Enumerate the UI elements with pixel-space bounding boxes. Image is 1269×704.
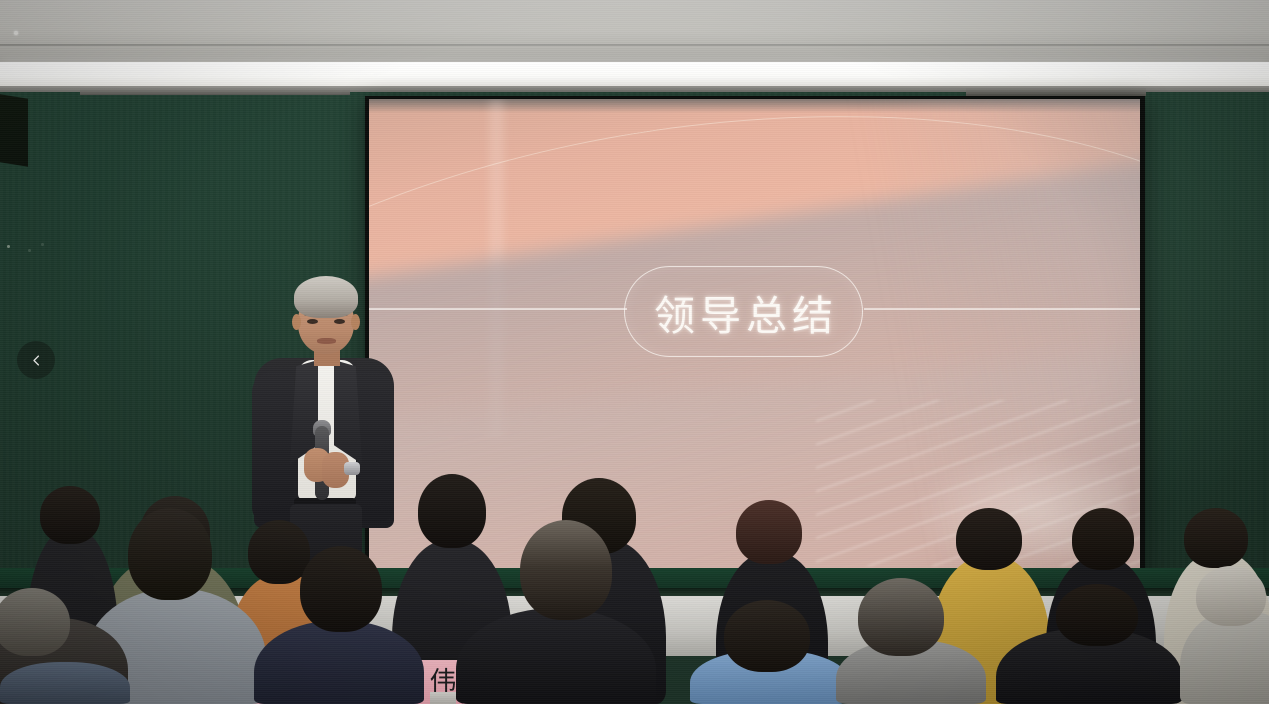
- name-placard-stand: [430, 692, 456, 704]
- attendee-black-top-head: [1072, 508, 1134, 570]
- attendee-orange-top-head: [248, 520, 310, 584]
- corner-speaker-unit: [0, 93, 28, 166]
- wall-speck: [7, 245, 10, 248]
- previous-image-button[interactable]: [17, 341, 55, 379]
- attendee-back-dark-3-head: [736, 500, 802, 564]
- attendee-black-jacket-head: [418, 474, 486, 548]
- attendee-dark-suit-head: [520, 520, 612, 620]
- presenter-ear-right: [351, 314, 360, 330]
- attendee-dark-turtleneck-head: [1056, 584, 1138, 646]
- presenter-wristwatch: [344, 462, 360, 475]
- attendee-gray-knit-head: [858, 578, 944, 656]
- wall-speck: [28, 249, 31, 252]
- slide-rule-right: [864, 308, 1140, 310]
- presenter-ear-left: [292, 314, 301, 330]
- attendee-light-gray-coat-head: [1196, 566, 1266, 626]
- slide-title-pill: 领导总结: [624, 266, 863, 357]
- presenter-hair: [294, 276, 358, 318]
- presenter-eye-right: [334, 319, 345, 324]
- slide-rule-left: [369, 308, 627, 310]
- ceiling-light-strip: [0, 62, 1269, 88]
- wall-speck: [41, 243, 44, 246]
- ceiling: [0, 0, 1269, 68]
- presenter-eye-left: [307, 319, 318, 324]
- screen-housing-left: [80, 88, 350, 95]
- presenter-arm-left: [252, 372, 294, 522]
- attendee-back-dark-1-head: [40, 486, 100, 544]
- attendee-light-blue-head: [724, 600, 810, 672]
- presenter-mouth: [317, 338, 336, 344]
- ceiling-seam: [0, 44, 1269, 46]
- ceiling-fixture-dot: [14, 31, 18, 35]
- photo-viewer-stage: 领导总结: [0, 0, 1269, 704]
- attendee-front-blue-edge: [0, 662, 130, 704]
- screen-housing-right: [966, 88, 1146, 96]
- attendee-mustard-jacket-head: [956, 508, 1022, 570]
- attendee-gray-blazer-head: [128, 508, 212, 600]
- attendee-cream-coat-head: [1184, 508, 1248, 568]
- slide-title: 领导总结: [649, 282, 838, 342]
- attendee-navy-suit-head: [300, 546, 382, 632]
- attendee-front-left-edge-head: [0, 588, 70, 656]
- chevron-left-icon: [29, 353, 44, 368]
